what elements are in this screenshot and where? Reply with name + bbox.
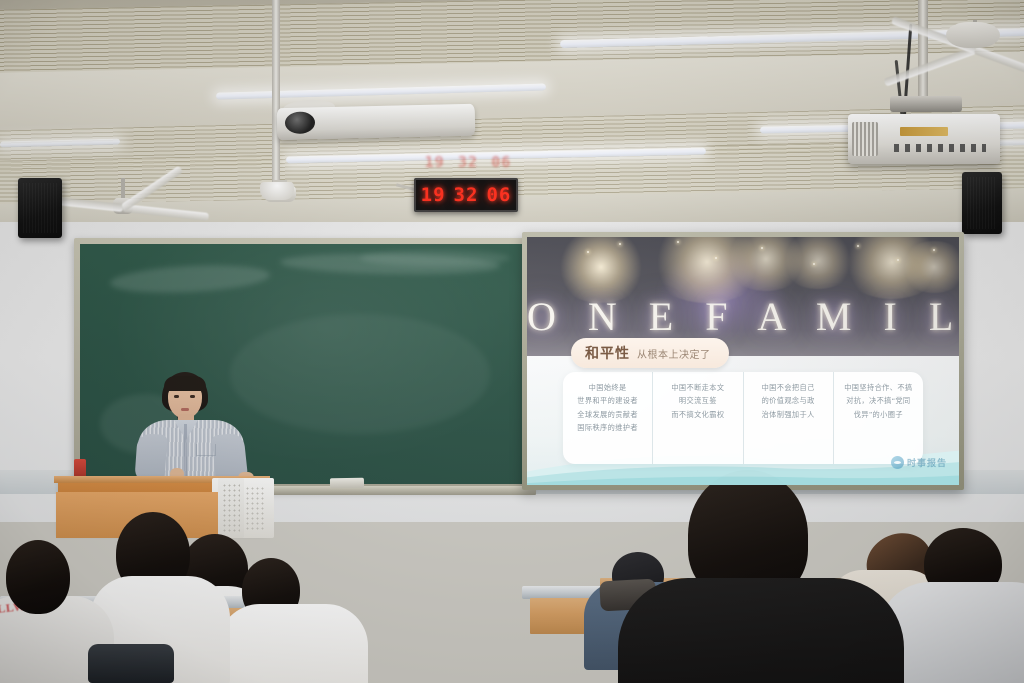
chalk-residue (109, 262, 270, 296)
projector-label (900, 127, 948, 136)
watermark-text: 时事报告 (907, 456, 947, 469)
slide-pill-subtitle: 从根本上决定了 (637, 346, 711, 361)
instructor-mouth (181, 408, 189, 411)
slide-column-4-text: 中国坚持合作、不搞对抗，决不搞“党同伐异”的小圈子 (844, 382, 912, 422)
projector-ports (894, 144, 986, 152)
firework-burst (899, 241, 959, 293)
slide-column-3-text: 中国不会把自己的价值观念与政治体制强加于人 (762, 382, 815, 422)
slide-pill-title: 和平性 (585, 343, 630, 363)
firework-spark (619, 243, 621, 245)
fan-blade (974, 46, 1024, 76)
classroom-scene: 19 32 06 19 32 06 (0, 0, 1024, 683)
slide-section-pill: 和平性 从根本上决定了 (571, 338, 729, 368)
slide-watermark: 时事报告 (891, 456, 947, 469)
student-head (6, 540, 70, 614)
backpack-foreground (88, 644, 174, 683)
instructor-eye (174, 395, 179, 398)
student-black-hoodie (636, 470, 876, 683)
firework-spark (587, 251, 589, 253)
slide-column-3: 中国不会把自己的价值观念与政治体制强加于人 (744, 372, 834, 464)
instructor-fringe (164, 376, 206, 391)
clock-hours: 19 (421, 184, 446, 206)
wall-speaker-right (962, 172, 1002, 234)
clock-reflect-seconds: 06 (491, 153, 511, 171)
ceiling-lamp (260, 182, 294, 200)
slide-column-4: 中国坚持合作、不搞对抗，决不搞“党同伐异”的小圈子 (834, 372, 923, 464)
projector-bracket (890, 96, 962, 112)
blackboard-eraser (330, 478, 364, 489)
student-torso (618, 578, 904, 683)
instructor-eye (190, 395, 195, 398)
ceiling-fan-left (58, 178, 188, 228)
led-wall-clock: 19 32 06 (414, 178, 518, 212)
projection-screen-frame: O N E F A M I L Y 和平性 从根本上决定了 中国始终是世界和平的… (522, 232, 964, 490)
projector-vent (852, 122, 878, 156)
clock-reflect-hours: 19 (425, 153, 445, 171)
instructor-placket (184, 424, 187, 478)
chalk-residue (360, 250, 510, 266)
ceiling-projector-left (277, 104, 476, 140)
firework-spark (677, 241, 679, 243)
slide-content-card: 中国始终是世界和平的建设者全球发展的贡献者国际秩序的维护者 中国不断走本文明交流… (563, 372, 923, 464)
watermark-logo-icon (891, 456, 904, 469)
presentation-slide: O N E F A M I L Y 和平性 从根本上决定了 中国始终是世界和平的… (527, 237, 959, 485)
clock-seconds: 06 (486, 184, 511, 206)
instructor-pocket (196, 444, 216, 456)
student-torso (218, 604, 368, 683)
fan-motor (946, 22, 1000, 48)
firework-spark (897, 259, 899, 261)
firework-spark (715, 257, 717, 259)
slide-column-2-text: 中国不断走本文明交流互鉴而不搞文化霸权 (671, 382, 724, 422)
student-gray-hoodie (886, 528, 1024, 683)
fan-rod (121, 178, 125, 200)
clock-minutes: 32 (454, 184, 479, 206)
clock-reflection: 19 32 06 (418, 152, 518, 172)
slide-headline: O N E F A M I L Y (527, 293, 959, 340)
firework-spark (933, 249, 935, 251)
slide-column-1: 中国始终是世界和平的建设者全球发展的贡献者国际秩序的维护者 (563, 372, 653, 464)
projector-mount-pole (272, 0, 280, 196)
firework-spark (813, 263, 815, 265)
clock-reflect-minutes: 32 (458, 153, 478, 171)
chalk-residue (230, 314, 490, 434)
student-white-hoodie (232, 558, 352, 683)
slide-column-2: 中国不断走本文明交流互鉴而不搞文化霸权 (653, 372, 743, 464)
instructor (134, 372, 252, 484)
ceiling-projector-right (848, 114, 1000, 164)
slide-column-1-text: 中国始终是世界和平的建设者全球发展的贡献者国际秩序的维护者 (577, 382, 638, 435)
firework-spark (857, 245, 859, 247)
wall-speaker-grille (218, 478, 244, 538)
firework-spark (761, 247, 763, 249)
wall-speaker-left (18, 178, 62, 238)
